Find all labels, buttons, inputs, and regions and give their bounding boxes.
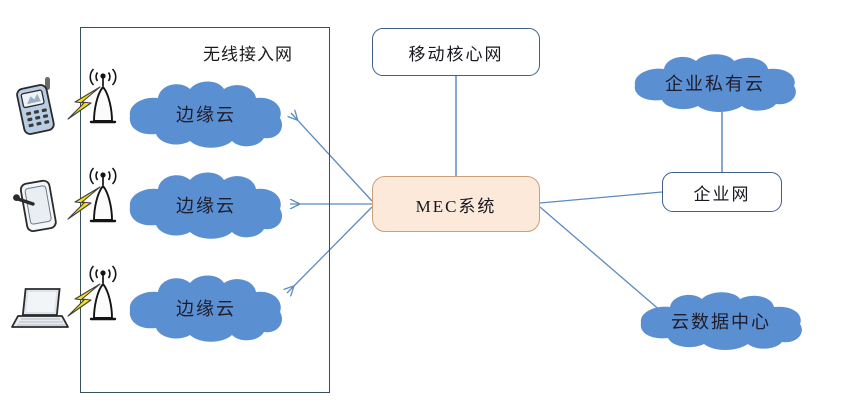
cell-tower-icon <box>86 66 120 128</box>
edge-cloud-2: 边缘云 <box>120 169 292 241</box>
edge-cloud-3: 边缘云 <box>120 272 292 344</box>
enterprise-network-box[interactable]: 企业网 <box>662 172 782 212</box>
mobile-phone-icon <box>12 74 64 136</box>
radio-access-network-label: 无线接入网 <box>203 40 293 65</box>
diagram-canvas: 无线接入网 <box>0 0 867 409</box>
cell-tower-icon <box>86 165 120 227</box>
enterprise-private-cloud: 企业私有云 <box>624 52 806 114</box>
cell-tower-icon <box>86 263 120 325</box>
tablet-pda-icon <box>12 176 64 238</box>
link-mec-to-enterprise-network <box>540 192 662 203</box>
mec-system-box[interactable]: MEC系统 <box>372 176 540 232</box>
cloud-data-center: 云数据中心 <box>630 290 812 352</box>
mobile-core-network-box[interactable]: 移动核心网 <box>372 28 540 76</box>
edge-cloud-1: 边缘云 <box>120 78 292 150</box>
